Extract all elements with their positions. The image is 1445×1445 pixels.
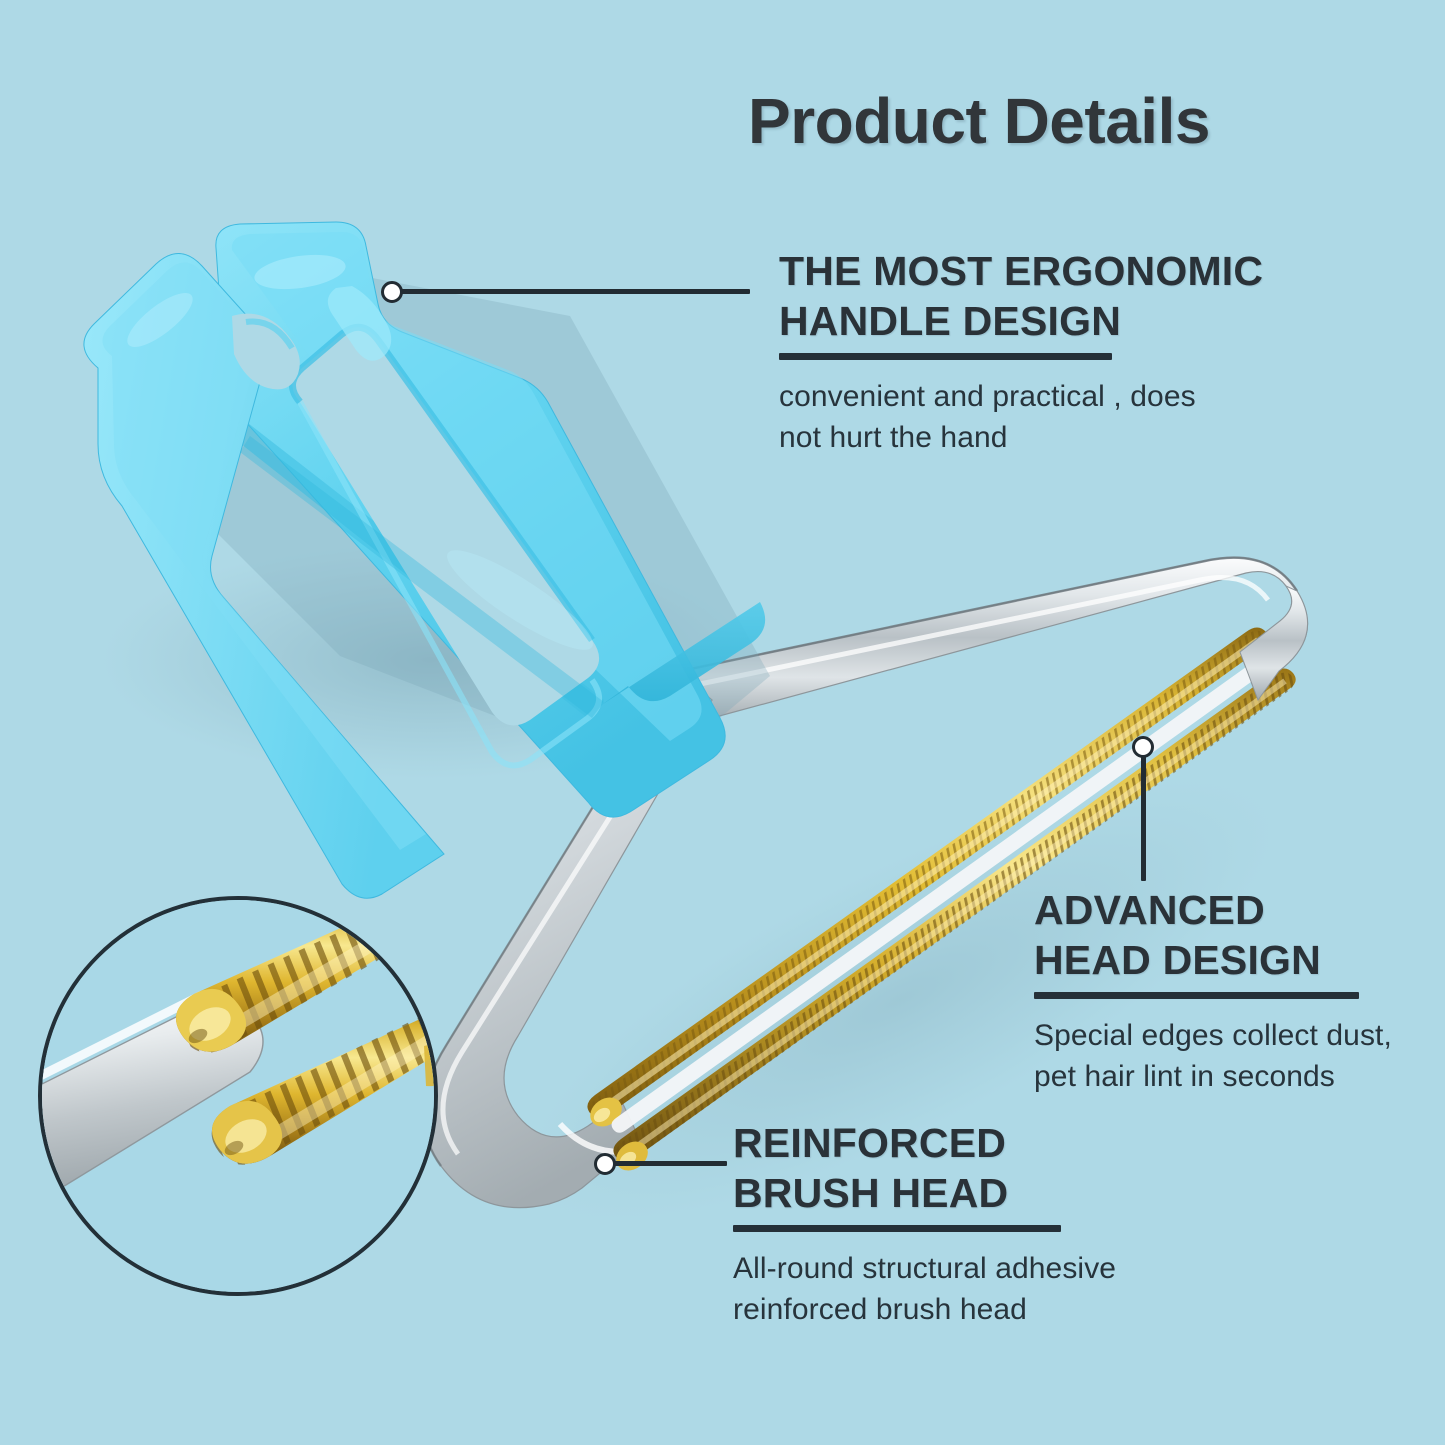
callout-body-line1: convenient and practical , does <box>779 377 1359 418</box>
callout-body-line2: reinforced brush head <box>733 1290 1203 1331</box>
callout-reinforced-brush: REINFORCED BRUSH HEAD All-round structur… <box>733 1118 1203 1330</box>
callout-body: All-round structural adhesive reinforced… <box>733 1249 1203 1331</box>
callout-underline <box>1034 992 1359 999</box>
callout-heading-line1: REINFORCED <box>733 1118 1203 1168</box>
callout-heading: ADVANCED HEAD DESIGN <box>1034 885 1434 986</box>
callout-body-line1: Special edges collect dust, <box>1034 1016 1434 1057</box>
callout-heading-line1: ADVANCED <box>1034 885 1434 935</box>
callout-body: Special edges collect dust, pet hair lin… <box>1034 1016 1434 1098</box>
callout-dot-brush <box>594 1153 616 1175</box>
callout-heading-line2: HANDLE DESIGN <box>779 296 1359 346</box>
callout-body-line2: not hurt the hand <box>779 418 1359 459</box>
callout-heading: THE MOST ERGONOMIC HANDLE DESIGN <box>779 246 1359 347</box>
callout-advanced-head: ADVANCED HEAD DESIGN Special edges colle… <box>1034 885 1434 1097</box>
callout-body: convenient and practical , does not hurt… <box>779 377 1359 459</box>
callout-dot-head <box>1132 736 1154 758</box>
leader-line-head <box>1141 756 1146 881</box>
callout-underline <box>779 353 1112 360</box>
blue-handle <box>72 222 770 898</box>
leader-line-brush <box>614 1161 727 1166</box>
leader-line-handle <box>401 289 750 294</box>
callout-ergonomic-handle: THE MOST ERGONOMIC HANDLE DESIGN conveni… <box>779 246 1359 458</box>
callout-heading-line2: BRUSH HEAD <box>733 1168 1203 1218</box>
closeup-illustration <box>38 896 438 1296</box>
callout-dot-handle <box>381 281 403 303</box>
callout-heading-line1: THE MOST ERGONOMIC <box>779 246 1359 296</box>
infographic-canvas: Product Details THE MOST ERGONOMIC HANDL… <box>0 0 1445 1445</box>
callout-heading: REINFORCED BRUSH HEAD <box>733 1118 1203 1219</box>
callout-underline <box>733 1225 1061 1232</box>
page-title: Product Details <box>748 88 1210 155</box>
callout-body-line2: pet hair lint in seconds <box>1034 1057 1434 1098</box>
brush-head-closeup-inset <box>38 896 438 1296</box>
callout-body-line1: All-round structural adhesive <box>733 1249 1203 1290</box>
callout-heading-line2: HEAD DESIGN <box>1034 935 1434 985</box>
